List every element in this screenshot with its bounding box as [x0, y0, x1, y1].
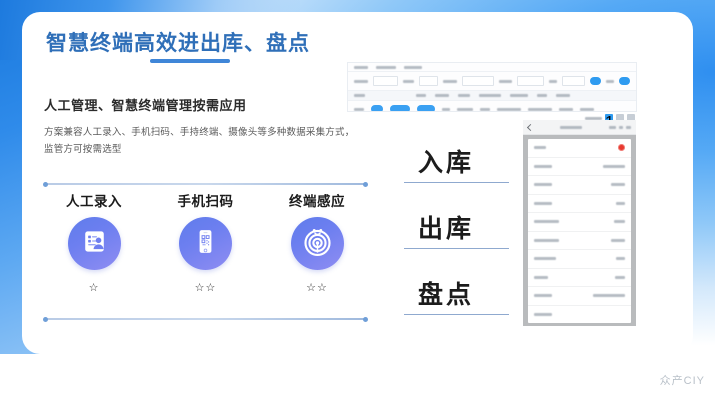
search-button[interactable] [590, 77, 602, 85]
feature-rail-top [44, 183, 367, 185]
dashboard-table-header [348, 91, 636, 101]
export-button[interactable] [619, 77, 630, 85]
feature-rail-bottom [44, 318, 367, 320]
filter-input[interactable] [373, 76, 399, 86]
feature-label: 手机扫码 [178, 190, 234, 210]
feature-item-manual-entry[interactable]: 人工录入 ☆ [44, 190, 144, 315]
column-header [435, 94, 449, 97]
feature-item-terminal-sensing[interactable]: 终端感应 ☆☆ [267, 190, 367, 315]
row-label [534, 220, 559, 223]
section-body: 方案兼容人工录入、手机扫码、手持终端、摄像头等多种数据采集方式， 监管方可按需选… [44, 124, 344, 158]
column-header [354, 94, 365, 97]
cell-value [457, 108, 473, 111]
list-item[interactable] [528, 213, 631, 232]
cell-value [354, 108, 364, 111]
column-header [556, 94, 570, 97]
background-bottom-strip [0, 354, 715, 400]
operation-underline [404, 314, 509, 315]
feature-icon-circle [179, 217, 232, 270]
slide-canvas: 智慧终端高效进出库、盘点 人工管理、智慧终端管理按需应用 方案兼容人工录入、手机… [0, 0, 715, 400]
dashboard-tab[interactable] [376, 66, 396, 69]
operation-item-inbound[interactable]: 入库 [404, 143, 514, 209]
list-item[interactable] [528, 176, 631, 195]
body-line-2: 监管方可按需选型 [44, 141, 344, 158]
phone-qrcode-icon [192, 228, 219, 260]
filter-label [499, 80, 512, 83]
row-label [534, 257, 556, 260]
page-title: 智慧终端高效进出库、盘点 [46, 27, 310, 57]
feature-label: 人工录入 [66, 190, 122, 210]
row-tag[interactable] [371, 105, 383, 112]
dashboard-tab[interactable] [354, 66, 368, 69]
row-value [616, 257, 625, 260]
filter-label [403, 80, 414, 83]
row-value [615, 276, 625, 279]
column-header [510, 94, 528, 97]
feature-icon-circle [291, 217, 344, 270]
rail-dot-left-icon [43, 317, 48, 322]
cell-value [528, 108, 552, 111]
feature-icon-circle [68, 217, 121, 270]
filter-label [354, 80, 368, 83]
filter-input[interactable] [462, 76, 494, 86]
filter-input[interactable] [562, 76, 584, 86]
list-item[interactable] [528, 287, 631, 306]
row-tag[interactable] [417, 105, 435, 112]
row-label [534, 165, 552, 168]
filter-input[interactable] [517, 76, 544, 86]
dashboard-tab-bar[interactable] [348, 63, 636, 72]
row-value [614, 220, 625, 223]
operation-list: 入库 出库 盘点 [404, 143, 514, 341]
more-icon[interactable] [609, 126, 616, 129]
column-header [458, 94, 470, 97]
dashboard-screenshot[interactable] [347, 62, 637, 112]
row-value [593, 294, 625, 297]
cell-value [442, 108, 450, 111]
row-value [611, 183, 625, 186]
reset-button[interactable] [606, 80, 614, 83]
column-header [479, 94, 501, 97]
cell-value [497, 108, 521, 111]
filter-select[interactable] [419, 76, 438, 86]
list-item[interactable] [528, 139, 631, 158]
title-underline [150, 59, 230, 63]
operation-item-outbound[interactable]: 出库 [404, 209, 514, 275]
body-line-1: 方案兼容人工录入、手机扫码、手持终端、摄像头等多种数据采集方式， [44, 124, 344, 141]
filter-label [549, 80, 557, 83]
list-item[interactable] [528, 158, 631, 177]
rail-dot-right-icon [363, 317, 368, 322]
operation-label: 入库 [418, 143, 474, 179]
filter-label [443, 80, 457, 83]
cell-value [559, 108, 573, 111]
status-badge-icon [618, 144, 625, 151]
row-label [534, 294, 552, 297]
cell-value [580, 108, 594, 111]
mobile-detail-list [528, 139, 631, 323]
feature-rating: ☆☆ [195, 281, 217, 294]
rail-dot-left-icon [43, 182, 48, 187]
list-item[interactable] [528, 306, 631, 324]
feature-item-phone-scan[interactable]: 手机扫码 [156, 190, 256, 315]
back-chevron-icon[interactable] [527, 123, 534, 130]
close-icon[interactable] [626, 126, 631, 129]
row-label [534, 146, 546, 149]
feature-rating: ☆ [89, 281, 100, 294]
cell-value [480, 108, 490, 111]
mobile-title-bar [523, 120, 636, 135]
row-label [534, 313, 552, 316]
row-label [534, 183, 552, 186]
row-tag[interactable] [390, 105, 410, 112]
operation-underline [404, 182, 509, 183]
operation-underline [404, 248, 509, 249]
row-label [534, 202, 552, 205]
column-header [416, 94, 426, 97]
mobile-app-screenshot[interactable] [523, 120, 636, 326]
mobile-title [560, 126, 582, 129]
feature-rating: ☆☆ [306, 281, 328, 294]
operation-label: 出库 [418, 209, 474, 245]
feature-label: 终端感应 [289, 190, 345, 210]
row-label [534, 276, 548, 279]
minimize-icon[interactable] [619, 126, 623, 129]
row-value [616, 202, 625, 205]
list-item[interactable] [528, 269, 631, 288]
rail-dot-right-icon [363, 182, 368, 187]
list-item[interactable] [528, 232, 631, 251]
section-subtitle: 人工管理、智慧终端管理按需应用 [44, 95, 247, 114]
dashboard-filter-bar[interactable] [348, 72, 636, 91]
operation-item-stocktake[interactable]: 盘点 [404, 275, 514, 341]
list-item[interactable] [528, 195, 631, 214]
id-card-person-icon [81, 228, 108, 260]
row-label [534, 239, 559, 242]
row-value [611, 239, 625, 242]
watermark: 众产CIY [660, 372, 705, 388]
column-header [537, 94, 547, 97]
feature-list: 人工录入 ☆ 手机扫码 [44, 190, 367, 315]
row-value [603, 165, 625, 168]
table-row[interactable] [348, 101, 636, 112]
list-item[interactable] [528, 250, 631, 269]
dashboard-tab[interactable] [404, 66, 422, 69]
sensor-signal-icon [302, 226, 333, 262]
operation-label: 盘点 [418, 275, 474, 311]
